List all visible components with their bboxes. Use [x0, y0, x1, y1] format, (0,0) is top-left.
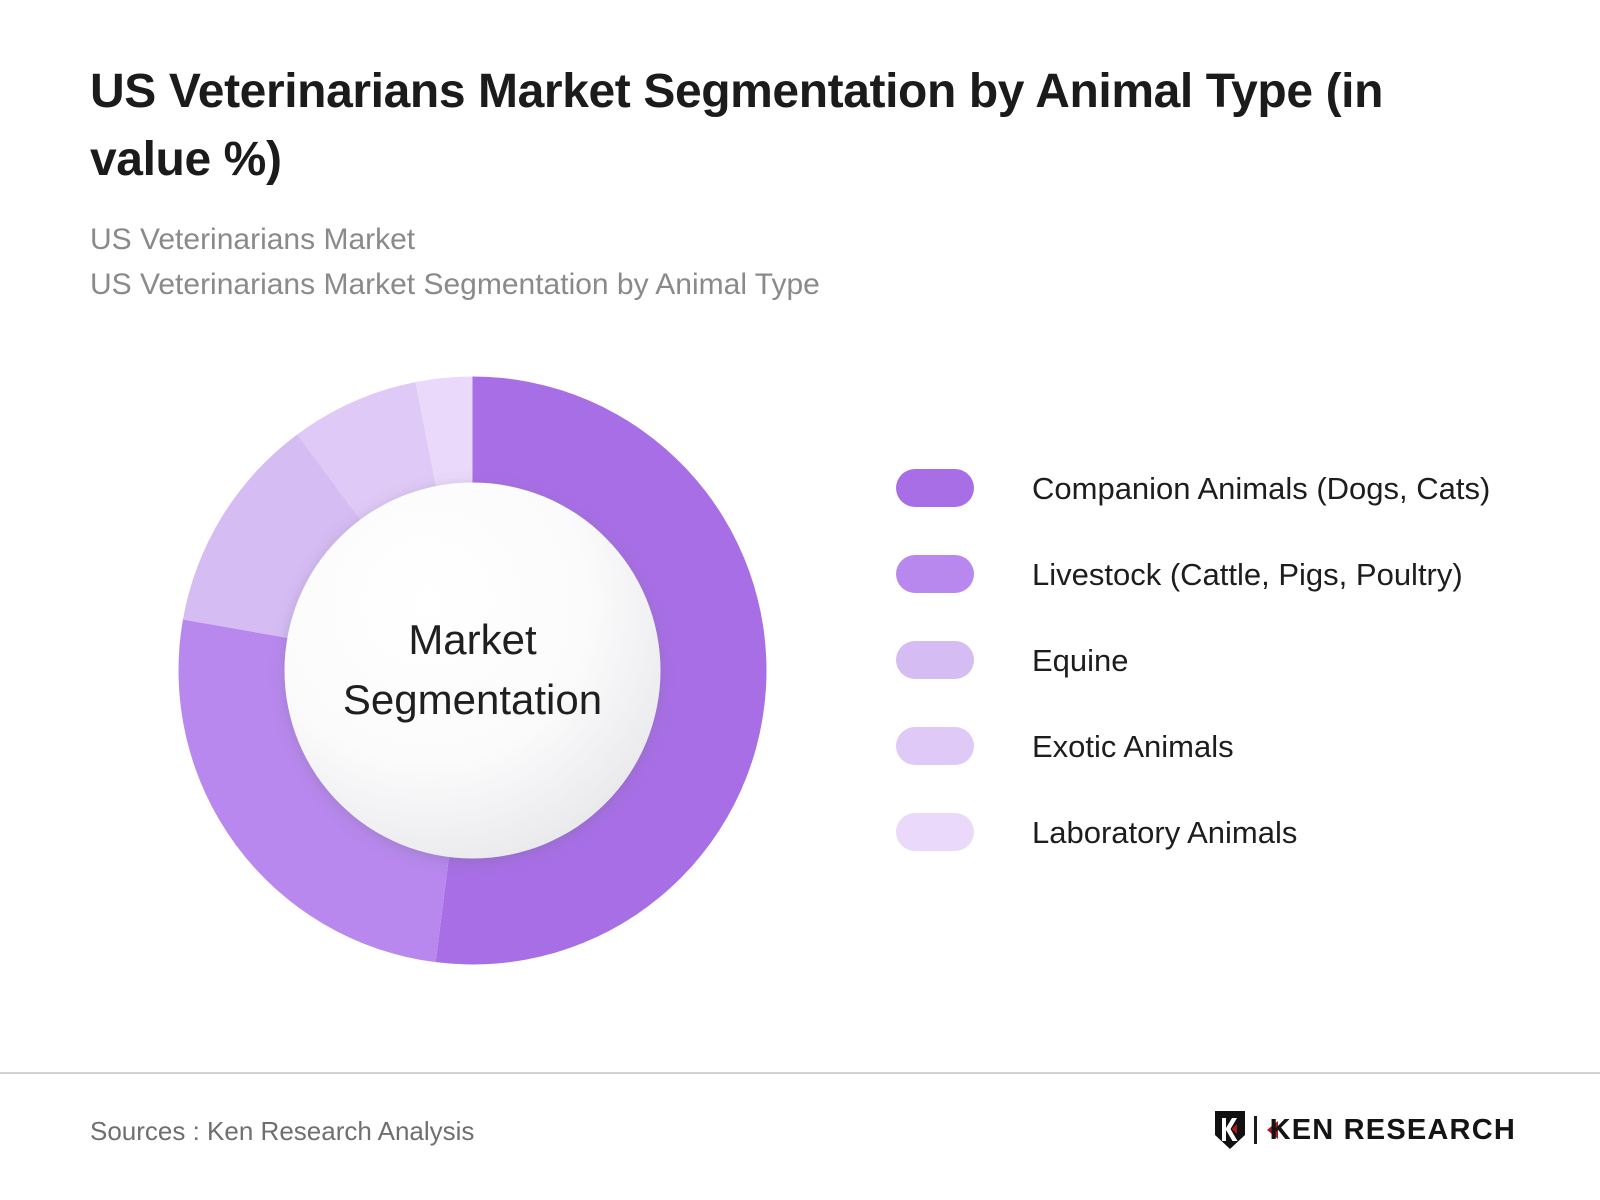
- logo-wordmark-text: KEN RESEARCH: [1270, 1116, 1516, 1145]
- legend-swatch-icon: [896, 469, 974, 507]
- subtitle-block: US Veterinarians Market US Veterinarians…: [90, 218, 1510, 307]
- logo-wordmark: KEN RESEARCH: [1266, 1116, 1516, 1145]
- logo-divider: [1254, 1116, 1257, 1144]
- legend-label: Laboratory Animals: [1032, 817, 1297, 848]
- page-title: US Veterinarians Market Segmentation by …: [90, 58, 1490, 194]
- legend-item[interactable]: Companion Animals (Dogs, Cats): [896, 445, 1556, 531]
- legend-item[interactable]: Exotic Animals: [896, 703, 1556, 789]
- legend-item[interactable]: Livestock (Cattle, Pigs, Poultry): [896, 531, 1556, 617]
- legend-label: Livestock (Cattle, Pigs, Poultry): [1032, 559, 1463, 590]
- legend-swatch-icon: [896, 813, 974, 851]
- donut-chart: Market Segmentation: [160, 358, 785, 983]
- legend-label: Companion Animals (Dogs, Cats): [1032, 473, 1490, 504]
- source-text: Sources : Ken Research Analysis: [90, 1116, 474, 1147]
- donut-hole: [285, 483, 661, 859]
- ken-research-shield-icon: [1213, 1110, 1247, 1150]
- header: US Veterinarians Market Segmentation by …: [90, 58, 1510, 307]
- footer: Sources : Ken Research Analysis KEN RESE…: [0, 1072, 1600, 1200]
- legend-item[interactable]: Equine: [896, 617, 1556, 703]
- slide-canvas: US Veterinarians Market Segmentation by …: [0, 0, 1600, 1200]
- chart-area: Market Segmentation Companion Animals (D…: [0, 340, 1600, 1030]
- legend-swatch-icon: [896, 727, 974, 765]
- legend-label: Exotic Animals: [1032, 731, 1234, 762]
- subtitle-line-1: US Veterinarians Market: [90, 218, 1510, 262]
- donut-svg: [160, 358, 785, 983]
- subtitle-line-2: US Veterinarians Market Segmentation by …: [90, 263, 1510, 307]
- legend-swatch-icon: [896, 555, 974, 593]
- legend-swatch-icon: [896, 641, 974, 679]
- legend-label: Equine: [1032, 645, 1129, 676]
- legend-item[interactable]: Laboratory Animals: [896, 789, 1556, 875]
- chart-legend: Companion Animals (Dogs, Cats)Livestock …: [896, 445, 1556, 875]
- ken-research-logo: KEN RESEARCH: [1213, 1110, 1516, 1150]
